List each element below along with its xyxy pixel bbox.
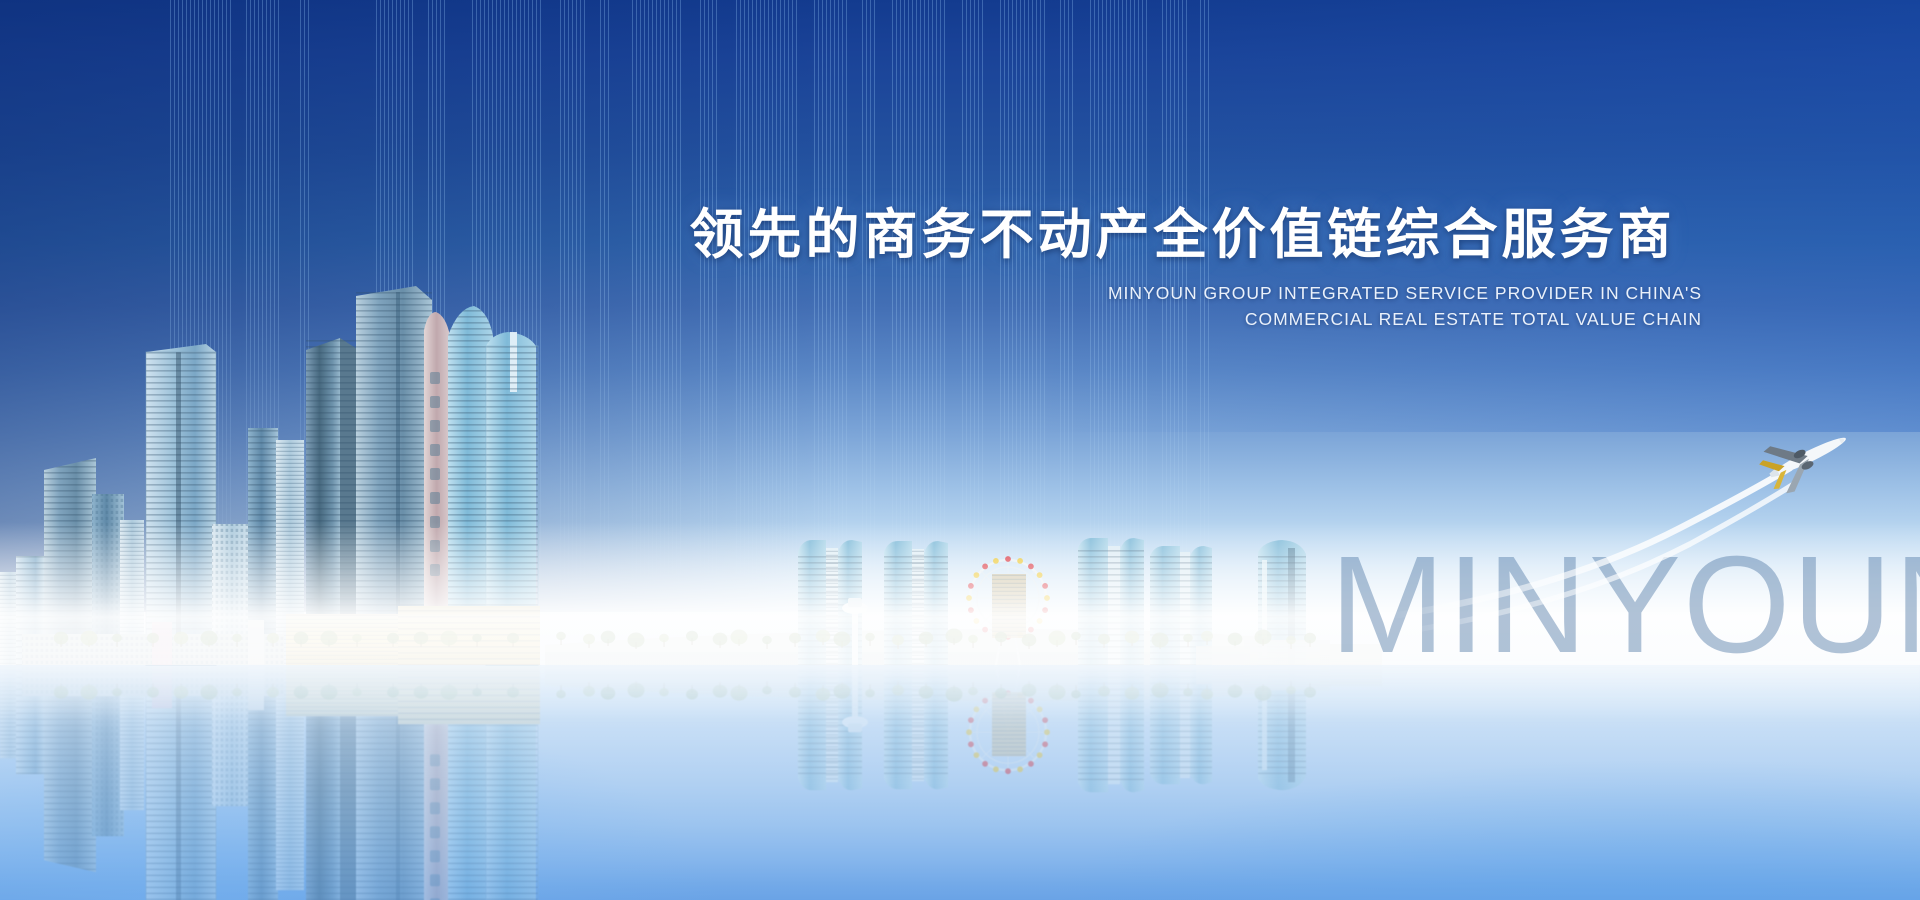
banner-hero: MINYOUN 领先的商务不动产全价值链综合 [0,0,1920,900]
city-skyline-reflection [0,430,1920,900]
hero-subtitle-line-2: COMMERCIAL REAL ESTATE TOTAL VALUE CHAIN [660,307,1702,332]
hero-subtitle-line-1: MINYOUN GROUP INTEGRATED SERVICE PROVIDE… [660,281,1702,306]
hero-subtitle: MINYOUN GROUP INTEGRATED SERVICE PROVIDE… [660,281,1705,332]
hero-text-block: 领先的商务不动产全价值链综合服务商 MINYOUN GROUP INTEGRAT… [660,205,1705,332]
page-title: 领先的商务不动产全价值链综合服务商 [660,205,1705,265]
